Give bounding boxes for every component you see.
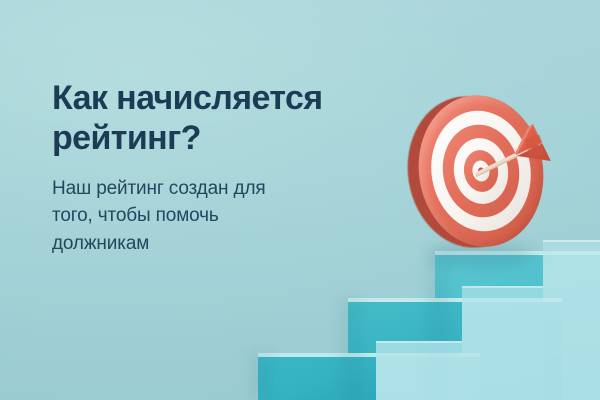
glass-panel-2-highlight	[462, 286, 543, 288]
glass-panel-2	[462, 286, 543, 400]
dartboard-target-icon	[408, 86, 554, 256]
glass-panel-1	[376, 341, 462, 400]
podium-step-2-shadow	[340, 298, 362, 400]
page-subtitle: Наш рейтинг создан для того, чтобы помоч…	[52, 175, 392, 257]
banner-canvas: Как начисляется рейтинг? Наш рейтинг соз…	[0, 0, 600, 400]
glass-panel-3	[543, 240, 600, 400]
page-title: Как начисляется рейтинг?	[52, 78, 422, 159]
banner-text-block: Как начисляется рейтинг? Наш рейтинг соз…	[52, 78, 422, 257]
glass-panel-1-highlight	[376, 341, 462, 343]
podium-step-1-shadow	[250, 352, 272, 400]
dartboard-illustration	[413, 92, 553, 252]
